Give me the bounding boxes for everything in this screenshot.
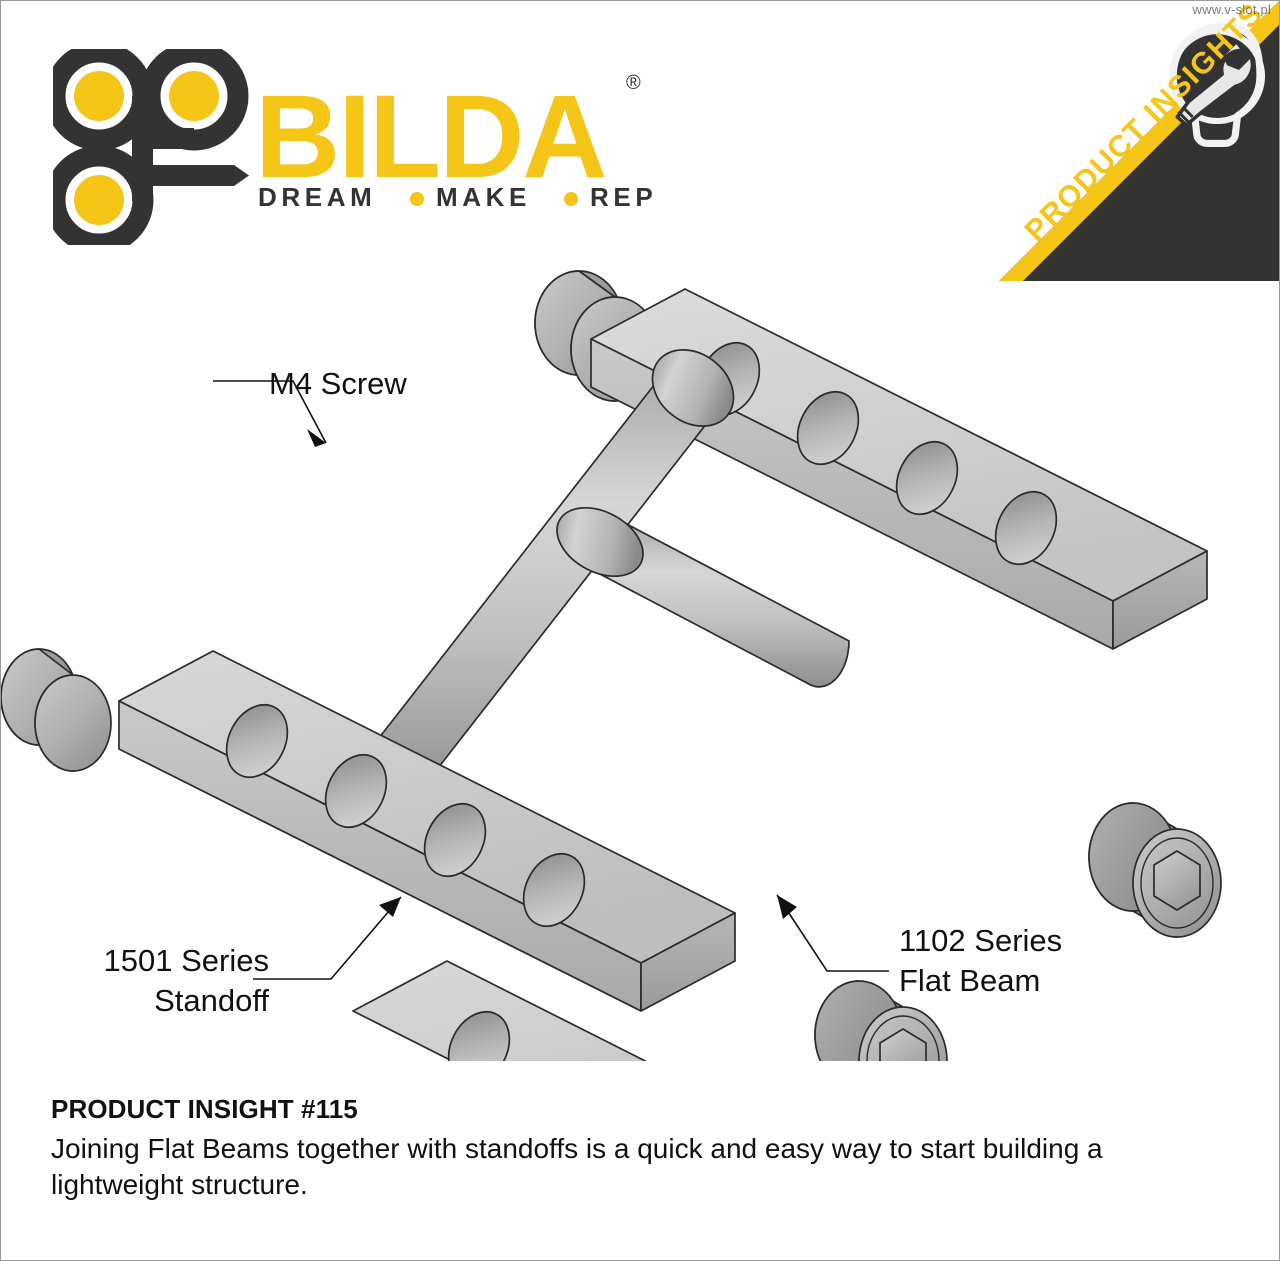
go-logomark-icon: [55, 52, 249, 244]
svg-text:MAKE: MAKE: [436, 182, 531, 212]
arrowhead-flat-beam: [777, 895, 797, 919]
m4-screw-lower-left: [1, 649, 111, 771]
callout-m4-screw: M4 Screw: [269, 364, 407, 404]
svg-text:DREAM: DREAM: [258, 182, 376, 212]
gobilda-logo: BILDA ® DREAM MAKE REPEAT: [53, 49, 653, 245]
hex-socket-recess: [1154, 851, 1200, 910]
m4-screw-right: [1089, 803, 1221, 937]
svg-text:REPEAT: REPEAT: [590, 182, 653, 212]
watermark-url: www.v-slot.pl: [1193, 2, 1271, 17]
callout-standoff: 1501 Series Standoff: [29, 941, 269, 1020]
callout-flat-beam: 1102 Series Flat Beam: [899, 921, 1219, 1000]
caption-block: PRODUCT INSIGHT #115 Joining Flat Beams …: [51, 1094, 1241, 1203]
standoff-front-cylinder: [545, 494, 849, 687]
tagline: DREAM MAKE REPEAT: [258, 182, 653, 212]
caption-body: Joining Flat Beams together with standof…: [51, 1131, 1241, 1203]
caption-heading: PRODUCT INSIGHT #115: [51, 1094, 1241, 1125]
product-insight-page: www.v-slot.pl BILDA: [0, 0, 1280, 1261]
product-insights-ribbon: PRODUCT INSIGHTS: [999, 1, 1279, 281]
registered-mark: ®: [626, 72, 641, 94]
